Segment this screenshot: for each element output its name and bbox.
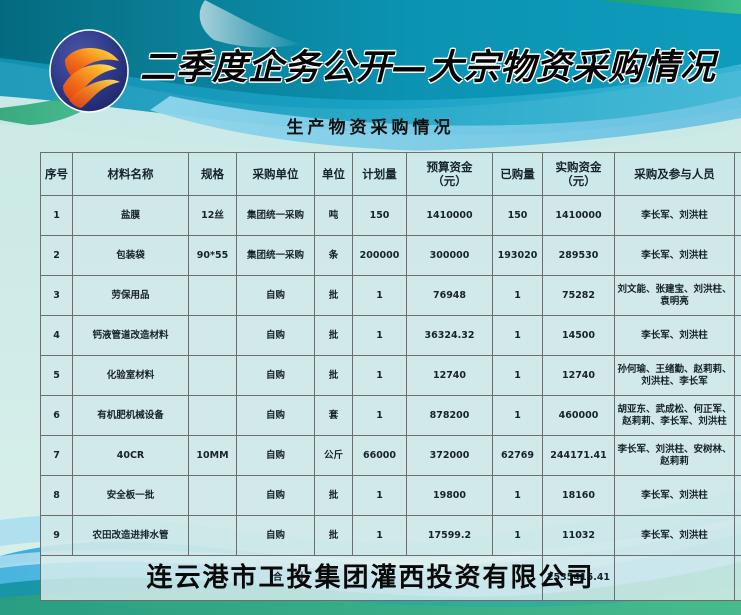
column-header-material-name: 材料名称 — [73, 153, 189, 196]
cell-budget: 36324.32 — [407, 316, 493, 356]
table-row: 2包装袋90*55集团统一采购条200000300000193020289530… — [41, 236, 741, 276]
cell-spec — [189, 476, 237, 516]
cell-index: 8 — [41, 476, 73, 516]
cell-purchase-unit: 自购 — [237, 396, 315, 436]
cell-spec: 10MM — [189, 436, 237, 476]
cell-remark: 分批采购 — [735, 476, 741, 516]
cell-people: 胡亚东、武成松、何正军、赵莉莉、李长军、刘洪柱 — [615, 396, 735, 436]
cell-people: 李长军、刘洪柱 — [615, 516, 735, 556]
cell-index: 6 — [41, 396, 73, 436]
cell-material-name: 有机肥机械设备 — [73, 396, 189, 436]
column-header-actual: 实购资金 （元） — [543, 153, 615, 196]
column-header-people: 采购及参与人员 — [615, 153, 735, 196]
table-row: 4钙液管道改造材料自购批136324.32114500李长军、刘洪柱一次采购 — [41, 316, 741, 356]
cell-material-name: 盐膜 — [73, 196, 189, 236]
cell-index: 4 — [41, 316, 73, 356]
cell-purchase-unit: 集团统一采购 — [237, 236, 315, 276]
procurement-table: 序号 材料名称 规格 采购单位 单位 计划量 预算资金 （元） 已购量 实购资金… — [40, 152, 741, 601]
cell-material-name: 包装袋 — [73, 236, 189, 276]
cell-remark: 多部门参与 — [735, 356, 741, 396]
cell-material-name: 40CR — [73, 436, 189, 476]
cell-budget: 12740 — [407, 356, 493, 396]
cell-index: 2 — [41, 236, 73, 276]
cell-remark: 分批采购 — [735, 516, 741, 556]
cell-plan-qty: 1 — [353, 316, 407, 356]
cell-actual: 460000 — [543, 396, 615, 436]
table-row: 6有机肥机械设备自购套18782001460000胡亚东、武成松、何正军、赵莉莉… — [41, 396, 741, 436]
cell-spec: 12丝 — [189, 196, 237, 236]
column-header-index: 序号 — [41, 153, 73, 196]
table-row: 5化验室材料自购批112740112740孙何瑜、王绪勤、赵莉莉、刘洪柱、李长军… — [41, 356, 741, 396]
cell-index: 7 — [41, 436, 73, 476]
cell-plan-qty: 1 — [353, 276, 407, 316]
column-header-bought-qty: 已购量 — [493, 153, 543, 196]
cell-budget: 372000 — [407, 436, 493, 476]
column-header-remark: 备注 — [735, 153, 741, 196]
cell-remark: 劳保护具 — [735, 276, 741, 316]
cell-material-name: 钙液管道改造材料 — [73, 316, 189, 356]
cell-actual: 11032 — [543, 516, 615, 556]
cell-people: 刘文能、张建宝、刘洪柱、袁明亮 — [615, 276, 735, 316]
cell-remark: 一次采购 — [735, 316, 741, 356]
cell-remark: 多部门参与 — [735, 396, 741, 436]
cell-purchase-unit: 自购 — [237, 476, 315, 516]
cell-budget: 19800 — [407, 476, 493, 516]
cell-purchase-unit: 自购 — [237, 516, 315, 556]
cell-budget: 76948 — [407, 276, 493, 316]
column-header-budget-line1: 预算资金 — [409, 160, 490, 174]
cell-unit: 批 — [315, 356, 353, 396]
cell-plan-qty: 1 — [353, 516, 407, 556]
cell-remark: 库存40吨 — [735, 196, 741, 236]
cell-actual: 1410000 — [543, 196, 615, 236]
cell-people: 孙何瑜、王绪勤、赵莉莉、刘洪柱、李长军 — [615, 356, 735, 396]
cell-bought-qty: 1 — [493, 516, 543, 556]
section-title: 生产物资采购情况 — [0, 113, 741, 138]
cell-bought-qty: 193020 — [493, 236, 543, 276]
cell-budget: 300000 — [407, 236, 493, 276]
cell-budget: 17599.2 — [407, 516, 493, 556]
table-header-row: 序号 材料名称 规格 采购单位 单位 计划量 预算资金 （元） 已购量 实购资金… — [41, 153, 741, 196]
cell-spec — [189, 316, 237, 356]
column-header-actual-line2: （元） — [545, 174, 612, 188]
table-row: 740CR10MM自购公斤6600037200062769244171.41李长… — [41, 436, 741, 476]
cell-unit: 套 — [315, 396, 353, 436]
cell-bought-qty: 1 — [493, 396, 543, 436]
table-body: 1盐膜12丝集团统一采购吨15014100001501410000李长军、刘洪柱… — [41, 196, 741, 556]
cell-material-name: 劳保用品 — [73, 276, 189, 316]
cell-unit: 条 — [315, 236, 353, 276]
cell-plan-qty: 1 — [353, 356, 407, 396]
cell-spec — [189, 516, 237, 556]
cell-remark: 多部门参与 — [735, 436, 741, 476]
company-logo — [47, 28, 131, 114]
cell-material-name: 农田改造进排水管 — [73, 516, 189, 556]
cell-bought-qty: 1 — [493, 276, 543, 316]
column-header-purchase-unit: 采购单位 — [237, 153, 315, 196]
cell-spec — [189, 276, 237, 316]
cell-purchase-unit: 集团统一采购 — [237, 196, 315, 236]
cell-actual: 75282 — [543, 276, 615, 316]
table-row: 3劳保用品自购批176948175282刘文能、张建宝、刘洪柱、袁明亮劳保护具 — [41, 276, 741, 316]
cell-people: 李长军、刘洪柱 — [615, 236, 735, 276]
cell-spec — [189, 396, 237, 436]
cell-purchase-unit: 自购 — [237, 436, 315, 476]
column-header-plan-qty: 计划量 — [353, 153, 407, 196]
cell-budget: 1410000 — [407, 196, 493, 236]
cell-bought-qty: 1 — [493, 476, 543, 516]
cell-people: 李长军、刘洪柱 — [615, 476, 735, 516]
cell-plan-qty: 66000 — [353, 436, 407, 476]
cell-unit: 批 — [315, 276, 353, 316]
cell-purchase-unit: 自购 — [237, 356, 315, 396]
cell-index: 1 — [41, 196, 73, 236]
cell-unit: 公斤 — [315, 436, 353, 476]
cell-bought-qty: 1 — [493, 316, 543, 356]
table-row: 9农田改造进排水管自购批117599.2111032李长军、刘洪柱分批采购 — [41, 516, 741, 556]
table-row: 1盐膜12丝集团统一采购吨15014100001501410000李长军、刘洪柱… — [41, 196, 741, 236]
cell-purchase-unit: 自购 — [237, 316, 315, 356]
cell-unit: 批 — [315, 316, 353, 356]
cell-index: 3 — [41, 276, 73, 316]
cell-bought-qty: 62769 — [493, 436, 543, 476]
cell-budget: 878200 — [407, 396, 493, 436]
cell-index: 5 — [41, 356, 73, 396]
cell-material-name: 化验室材料 — [73, 356, 189, 396]
company-name-footer: 连云港市工投集团灌西投资有限公司 — [0, 557, 741, 594]
column-header-budget: 预算资金 （元） — [407, 153, 493, 196]
table-row: 8安全板一批自购批119800118160李长军、刘洪柱分批采购 — [41, 476, 741, 516]
cell-material-name: 安全板一批 — [73, 476, 189, 516]
cell-actual: 244171.41 — [543, 436, 615, 476]
cell-plan-qty: 1 — [353, 396, 407, 436]
cell-spec — [189, 356, 237, 396]
cell-actual: 18160 — [543, 476, 615, 516]
procurement-table-container: 序号 材料名称 规格 采购单位 单位 计划量 预算资金 （元） 已购量 实购资金… — [40, 152, 701, 601]
cell-people: 李长军、刘洪柱 — [615, 316, 735, 356]
column-header-unit: 单位 — [315, 153, 353, 196]
cell-actual: 289530 — [543, 236, 615, 276]
column-header-actual-line1: 实购资金 — [545, 160, 612, 174]
column-header-spec: 规格 — [189, 153, 237, 196]
cell-actual: 12740 — [543, 356, 615, 396]
cell-remark: 筑包基地 — [735, 236, 741, 276]
banner-title: 二季度企务公开—大宗物资采购情况 — [140, 38, 720, 98]
cell-purchase-unit: 自购 — [237, 276, 315, 316]
cell-plan-qty: 200000 — [353, 236, 407, 276]
cell-unit: 批 — [315, 516, 353, 556]
cell-spec: 90*55 — [189, 236, 237, 276]
cell-index: 9 — [41, 516, 73, 556]
cell-people: 李长军、刘洪柱、安树林、赵莉莉 — [615, 436, 735, 476]
cell-unit: 批 — [315, 476, 353, 516]
cell-bought-qty: 150 — [493, 196, 543, 236]
cell-unit: 吨 — [315, 196, 353, 236]
cell-actual: 14500 — [543, 316, 615, 356]
cell-bought-qty: 1 — [493, 356, 543, 396]
cell-plan-qty: 150 — [353, 196, 407, 236]
poster-root: 二季度企务公开—大宗物资采购情况 生产物资采购情况 序号 材料名称 规格 采购单… — [0, 0, 741, 615]
cell-people: 李长军、刘洪柱 — [615, 196, 735, 236]
cell-plan-qty: 1 — [353, 476, 407, 516]
column-header-budget-line2: （元） — [409, 174, 490, 188]
